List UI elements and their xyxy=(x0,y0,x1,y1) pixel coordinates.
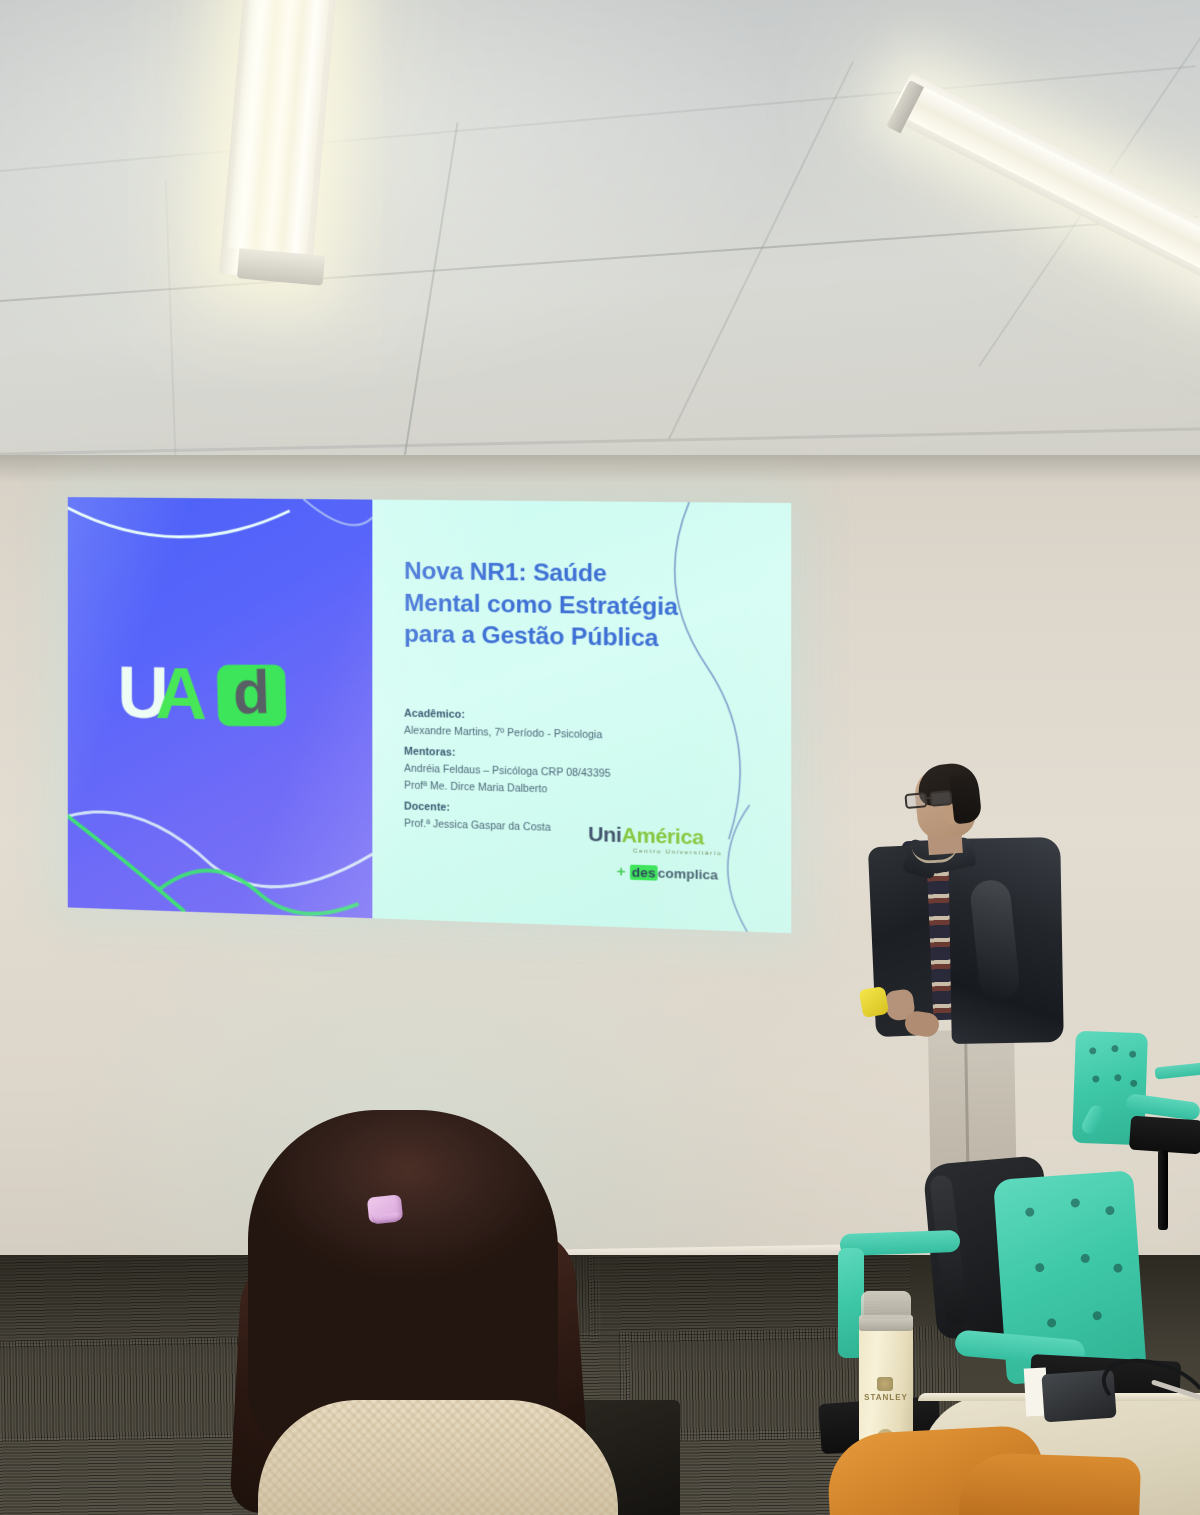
credit-label-mentoras: Mentoras: xyxy=(404,746,708,766)
descomplica-complica: complica xyxy=(658,865,718,882)
slide-title-line-1: Nova NR1: Saúde xyxy=(404,556,698,592)
chair-post xyxy=(1158,1150,1168,1230)
ceiling-light-falloff xyxy=(0,0,1200,470)
credit-label-docente: Docente: xyxy=(404,801,708,822)
slide-title: Nova NR1: Saúde Mental como Estratégia p… xyxy=(404,556,698,656)
ceiling xyxy=(0,0,1200,470)
descomplica-logo: +descomplica xyxy=(617,863,723,884)
slide-title-line-2: Mental como Estratégia xyxy=(404,587,698,623)
chair-seat xyxy=(1129,1116,1200,1155)
descomplica-des: des xyxy=(630,865,658,881)
uniamerica-wordmark: UniAmérica xyxy=(588,823,722,851)
uniamerica-logo: UniAmérica Centro Universitário +descomp… xyxy=(588,823,722,884)
uad-logo-d-badge: d xyxy=(217,664,287,726)
credit-text-mentora-1: Andréia Feldaus – Psicóloga CRP 08/43395 xyxy=(404,764,708,783)
uniamerica-america: América xyxy=(621,824,703,850)
slide-left-panel: U A d xyxy=(68,497,373,918)
uniamerica-subtitle: Centro Universitário xyxy=(633,847,722,857)
projected-slide: U A d Nova NR1: Saúde Mental como Estrat… xyxy=(68,497,791,933)
uniamerica-uni: Uni xyxy=(588,823,621,847)
credit-text-mentora-2: Profª Me. Dirce Maria Dalberto xyxy=(404,781,708,800)
descomplica-plus: + xyxy=(617,863,626,881)
student-sweater xyxy=(258,1400,618,1515)
slide-right-panel: Nova NR1: Saúde Mental como Estratégia p… xyxy=(372,500,791,934)
uad-logo: U A d xyxy=(117,654,326,735)
tumbler-lid[interactable] xyxy=(861,1291,911,1319)
tumbler-emblem xyxy=(877,1377,893,1391)
slide-credits-block: Acadêmico: Alexandre Martins, 7º Período… xyxy=(404,708,708,839)
uad-logo-letter-d: d xyxy=(232,669,270,718)
hair-clip xyxy=(367,1194,404,1223)
slide-title-line-3: para a Gestão Pública xyxy=(404,619,698,656)
tumbler-brand-label: STANLEY xyxy=(855,1393,917,1402)
uad-logo-letter-a: A xyxy=(155,662,204,725)
photo-scene: U A d Nova NR1: Saúde Mental como Estrat… xyxy=(0,0,1200,1515)
orange-bag-fold xyxy=(959,1452,1141,1515)
credit-text-academico: Alexandre Martins, 7º Período - Psicolog… xyxy=(404,726,708,744)
presentation-clicker[interactable] xyxy=(859,986,889,1018)
